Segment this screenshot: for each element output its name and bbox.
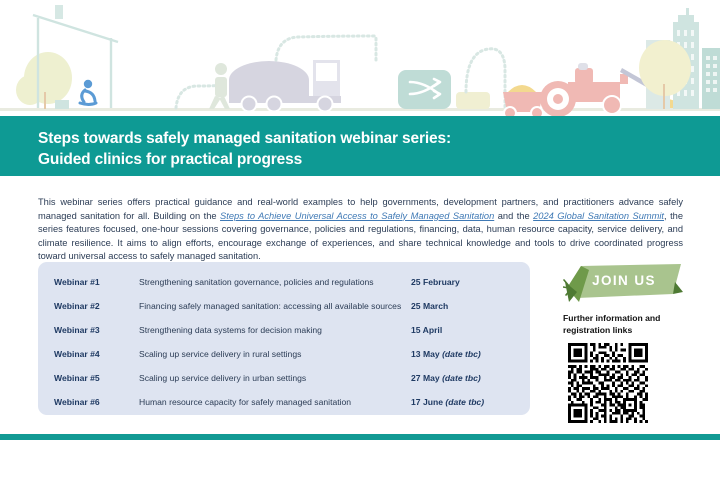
table-row[interactable]: Webinar #1 Strengthening sanitation gove… [54,272,516,291]
webinar-date: 17 June (date tbc) [411,397,516,407]
table-row[interactable]: Webinar #5 Scaling up service delivery i… [54,368,516,387]
webinar-label: Webinar #6 [54,397,139,407]
webinar-date: 25 February [411,277,516,287]
title-line-2: Guided clinics for practical progress [38,149,678,170]
link-2024-summit[interactable]: 2024 Global Sanitation Summit [533,211,664,221]
link-steps-to-achieve[interactable]: Steps to Achieve Universal Access to Saf… [220,211,494,221]
footer: World Health Organization unicef for eve… [0,440,720,498]
intro-text-2: and the [494,211,533,221]
webinar-label: Webinar #2 [54,301,139,311]
title-line-1: Steps towards safely managed sanitation … [38,130,451,147]
further-line-2: registration links [563,325,632,335]
join-us-label: JOIN US [563,273,685,288]
treatment-plant-icon [398,70,451,109]
webinar-label: Webinar #1 [54,277,139,287]
table-row[interactable]: Webinar #3 Strengthening data systems fo… [54,320,516,339]
webinar-title: Human resource capacity for safely manag… [139,397,411,407]
date-note: (date tbc) [445,397,484,407]
person-squatting-icon [80,80,96,105]
table-row[interactable]: Webinar #6 Human resource capacity for s… [54,392,516,411]
date-value: 27 May [411,373,442,383]
webinar-schedule-panel: Webinar #1 Strengthening sanitation gove… [38,262,530,415]
further-line-1: Further information and [563,313,660,323]
webinar-label: Webinar #3 [54,325,139,335]
webinar-title: Strengthening sanitation governance, pol… [139,277,411,287]
title-banner: Steps towards safely managed sanitation … [0,116,720,176]
further-info-text: Further information and registration lin… [563,312,695,336]
date-value: 25 March [411,301,448,311]
tanker-truck-icon [229,60,341,112]
webinar-title: Strengthening data systems for decision … [139,325,411,335]
webinar-title: Financing safely managed sanitation: acc… [139,301,411,311]
webinar-date: 25 March [411,301,516,311]
table-row[interactable]: Webinar #2 Financing safely managed sani… [54,296,516,315]
poster-page: Steps towards safely managed sanitation … [0,0,720,498]
compost-cart-icon [503,85,543,116]
webinar-date: 13 May (date tbc) [411,349,516,359]
webinar-title: Scaling up service delivery in urban set… [139,373,411,383]
date-note: (date tbc) [442,373,481,383]
qr-code-icon[interactable] [568,343,648,423]
join-us-ribbon[interactable]: JOIN US [563,262,685,304]
date-value: 13 May [411,349,442,359]
date-value: 15 April [411,325,442,335]
webinar-label: Webinar #4 [54,349,139,359]
date-value: 25 February [411,277,460,287]
webinar-date: 15 April [411,325,516,335]
date-value: 17 June [411,397,445,407]
webinar-date: 27 May (date tbc) [411,373,516,383]
page-title: Steps towards safely managed sanitation … [38,128,678,170]
intro-paragraph: This webinar series offers practical gui… [38,196,683,263]
hero-illustration [0,0,720,116]
table-row[interactable]: Webinar #4 Scaling up service delivery i… [54,344,516,363]
date-note: (date tbc) [442,349,481,359]
storage-box-icon [456,92,490,109]
webinar-label: Webinar #5 [54,373,139,383]
flow-dots-2 [276,36,376,60]
webinar-title: Scaling up service delivery in rural set… [139,349,411,359]
